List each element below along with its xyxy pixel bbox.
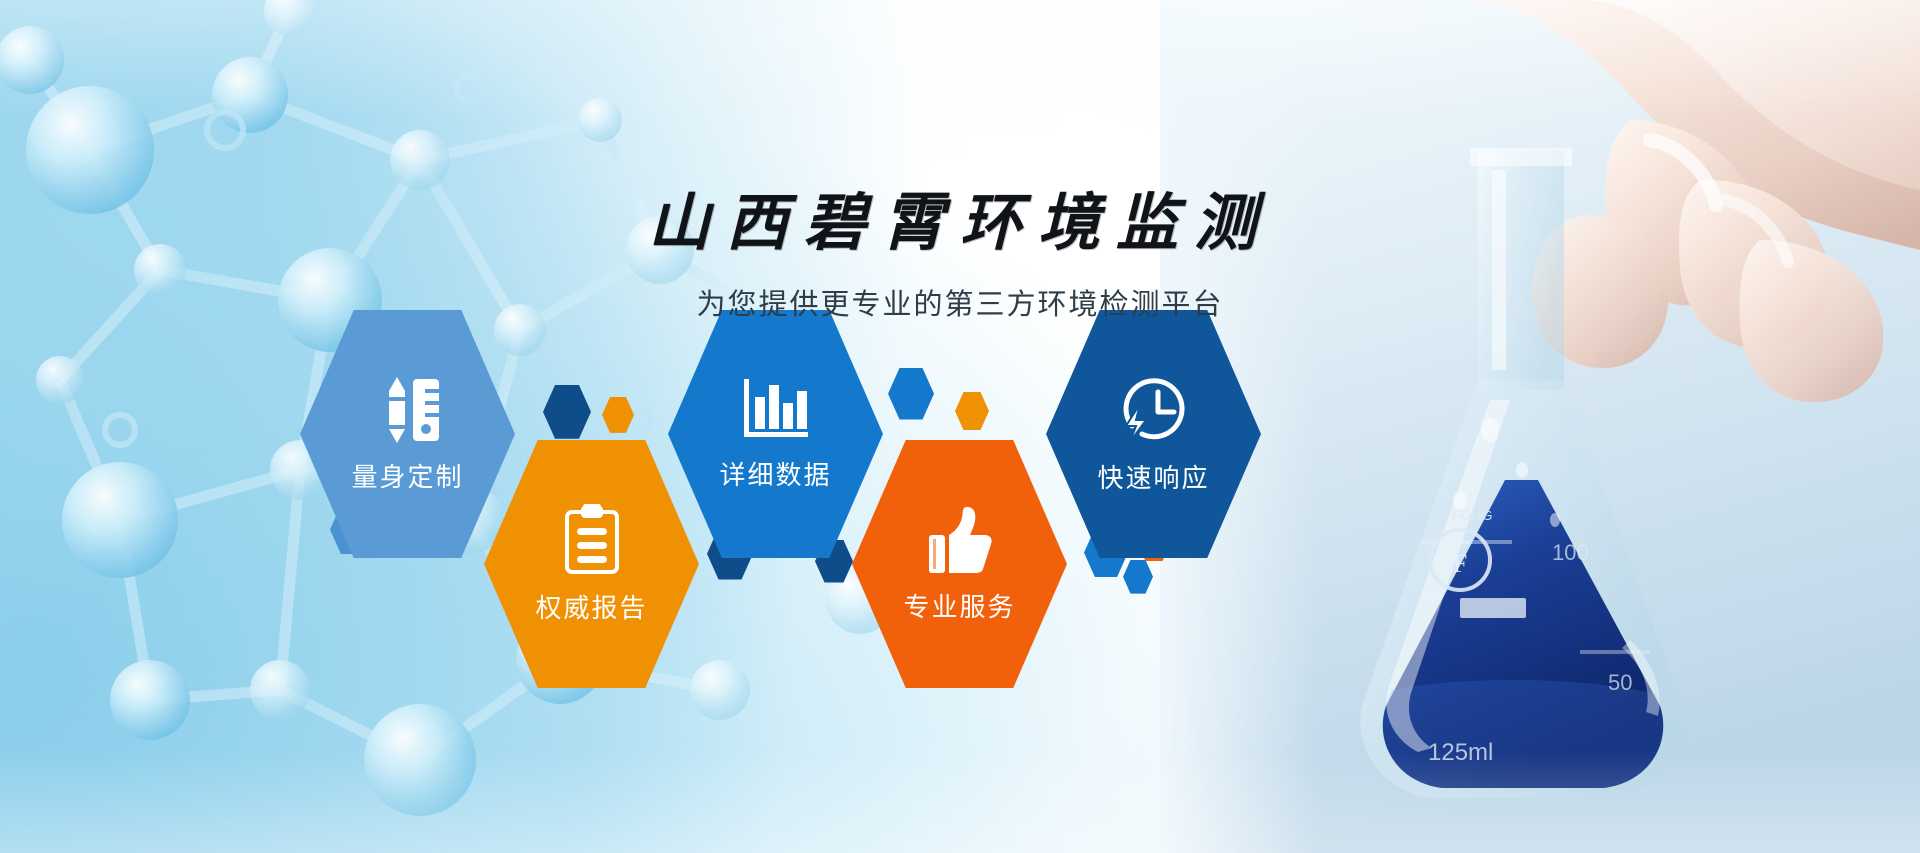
feature-hex-label: 量身定制 — [351, 457, 463, 494]
feature-hex-report[interactable]: 权威报告 — [484, 440, 699, 688]
decor-hex-blue-1 — [888, 368, 934, 420]
decor-hex-navy-1 — [543, 385, 591, 439]
thumbs-up-icon — [927, 505, 993, 575]
feature-hex-label: 快速响应 — [1097, 458, 1209, 495]
page-title: 山西碧霄环境监测 — [510, 190, 1410, 255]
feature-hex-label: 专业服务 — [903, 587, 1015, 624]
feature-hex-label: 权威报告 — [535, 588, 647, 625]
feature-hex-label: 详细数据 — [719, 455, 831, 492]
clipboard-icon — [561, 504, 623, 576]
decor-hex-blue-5 — [1123, 560, 1153, 594]
feature-hex-service[interactable]: 专业服务 — [852, 440, 1067, 688]
feature-hex-custom[interactable]: 量身定制 — [300, 310, 515, 558]
clock-bolt-icon — [1118, 374, 1190, 446]
title-block: 山西碧霄环境监测 为您提供更专业的第三方环境检测平台 — [510, 190, 1410, 323]
page-subtitle: 为您提供更专业的第三方环境检测平台 — [510, 281, 1410, 323]
feature-hexagon-group: 量身定制 权威报告 — [0, 0, 1920, 853]
bar-chart-icon — [742, 377, 810, 443]
feature-hex-response[interactable]: 快速响应 — [1046, 310, 1261, 558]
decor-hex-orange-1 — [602, 397, 634, 433]
hero-banner: 100 50 125ml F TAI FONG 山西碧霄环境监测 为您提供更专业… — [0, 0, 1920, 853]
pencil-ruler-icon — [375, 375, 441, 445]
decor-hex-orange-2 — [955, 392, 989, 430]
feature-hex-data[interactable]: 详细数据 — [668, 310, 883, 558]
